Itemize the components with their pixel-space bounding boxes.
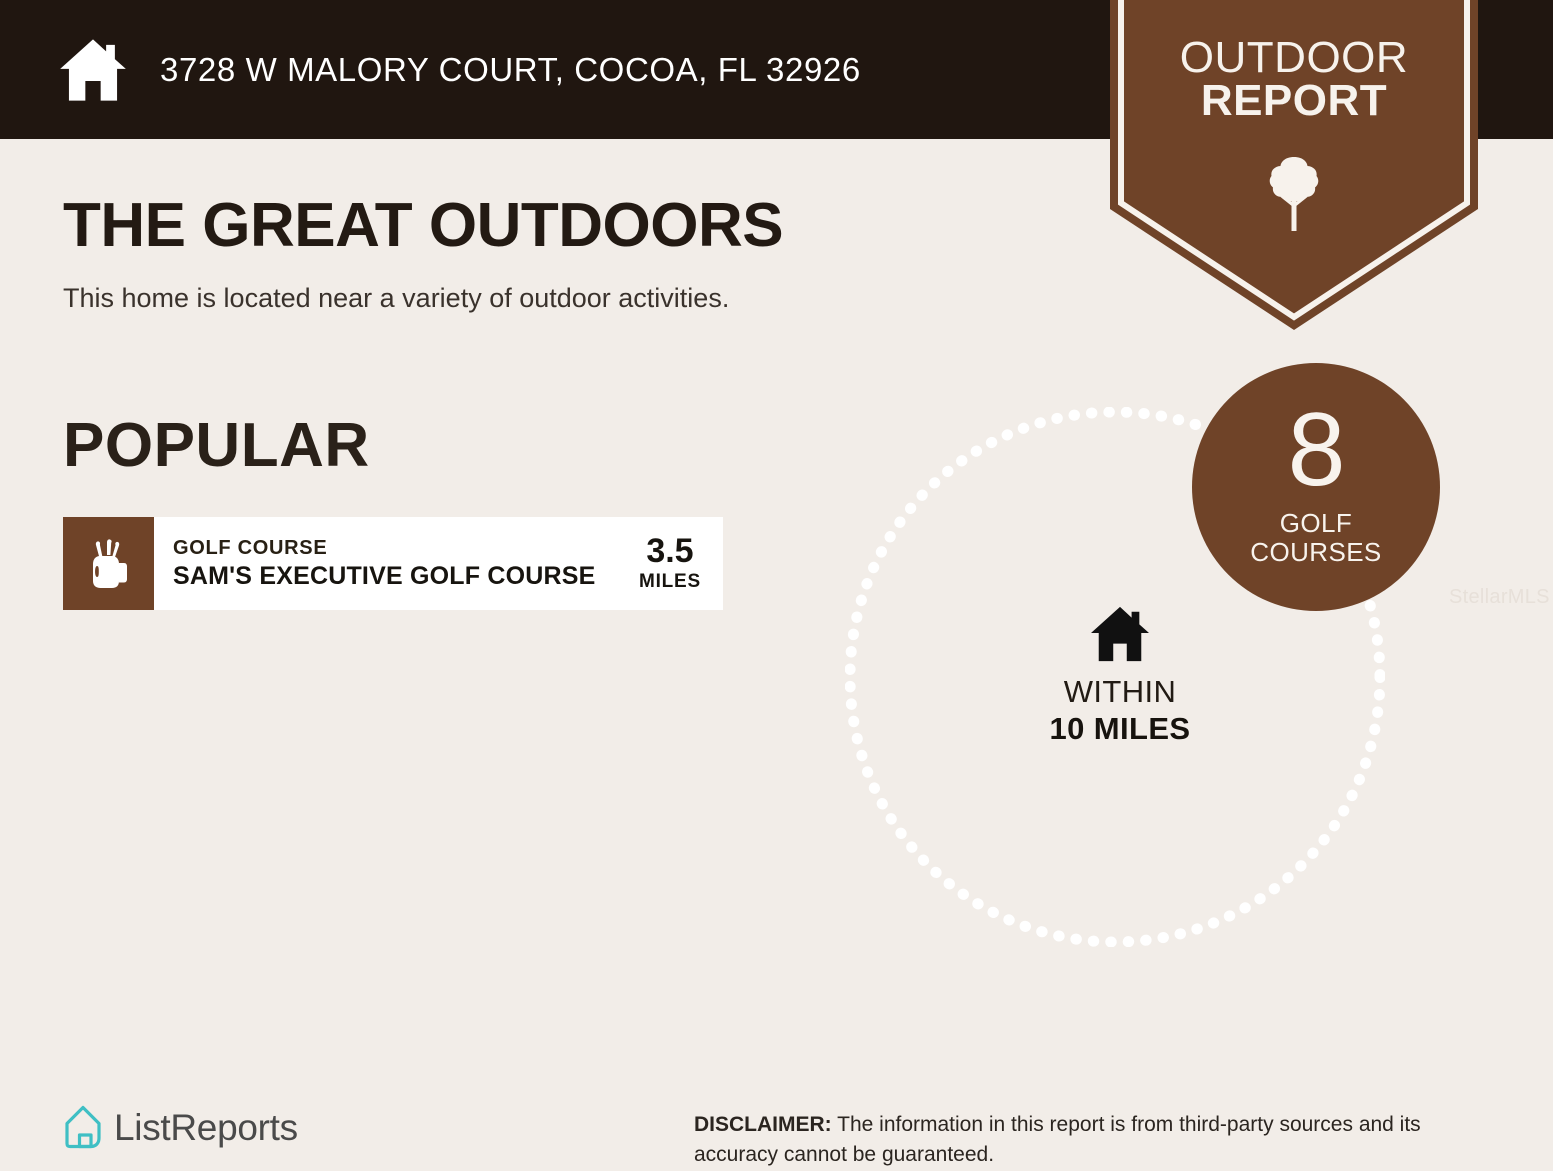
disclaimer-label: DISCLAIMER: [694, 1113, 832, 1136]
home-icon [1089, 605, 1151, 663]
list-item-name: SAM'S EXECUTIVE GOLF COURSE [173, 561, 631, 591]
center-marker-line2: 10 MILES [1049, 713, 1190, 746]
golf-bag-icon [63, 517, 154, 610]
page-subtitle: This home is located near a variety of o… [63, 283, 729, 314]
header-address: 3728 W MALORY COURT, COCOA, FL 32926 [160, 51, 861, 89]
listreports-logo[interactable]: ListReports [63, 1105, 298, 1150]
list-item-text: GOLF COURSE SAM'S EXECUTIVE GOLF COURSE [154, 517, 631, 610]
count-label-line1: GOLF [1250, 509, 1381, 538]
listreports-logo-text: ListReports [114, 1107, 298, 1149]
listreports-pin-icon [63, 1105, 103, 1150]
count-label: GOLF COURSES [1250, 509, 1381, 567]
page-title: THE GREAT OUTDOORS [63, 190, 783, 261]
outdoor-report-badge: OUTDOOR REPORT [1110, 0, 1478, 330]
center-home-marker: WITHIN 10 MILES [985, 605, 1255, 745]
stellarmls-watermark: StellarMLS [1449, 586, 1550, 609]
list-item[interactable]: GOLF COURSE SAM'S EXECUTIVE GOLF COURSE … [63, 517, 723, 610]
list-item-category: GOLF COURSE [173, 536, 631, 561]
list-item-distance-unit: MILES [639, 571, 701, 593]
golf-courses-count-bubble: 8 GOLF COURSES [1192, 363, 1440, 611]
disclaimer: DISCLAIMER: The information in this repo… [694, 1110, 1494, 1171]
section-title-popular: POPULAR [63, 410, 370, 481]
list-item-distance-value: 3.5 [646, 534, 693, 568]
home-icon [0, 35, 128, 105]
count-value: 8 [1288, 407, 1345, 494]
count-label-line2: COURSES [1250, 538, 1381, 567]
list-item-distance: 3.5 MILES [631, 517, 723, 610]
center-marker-line1: WITHIN [1064, 676, 1177, 709]
